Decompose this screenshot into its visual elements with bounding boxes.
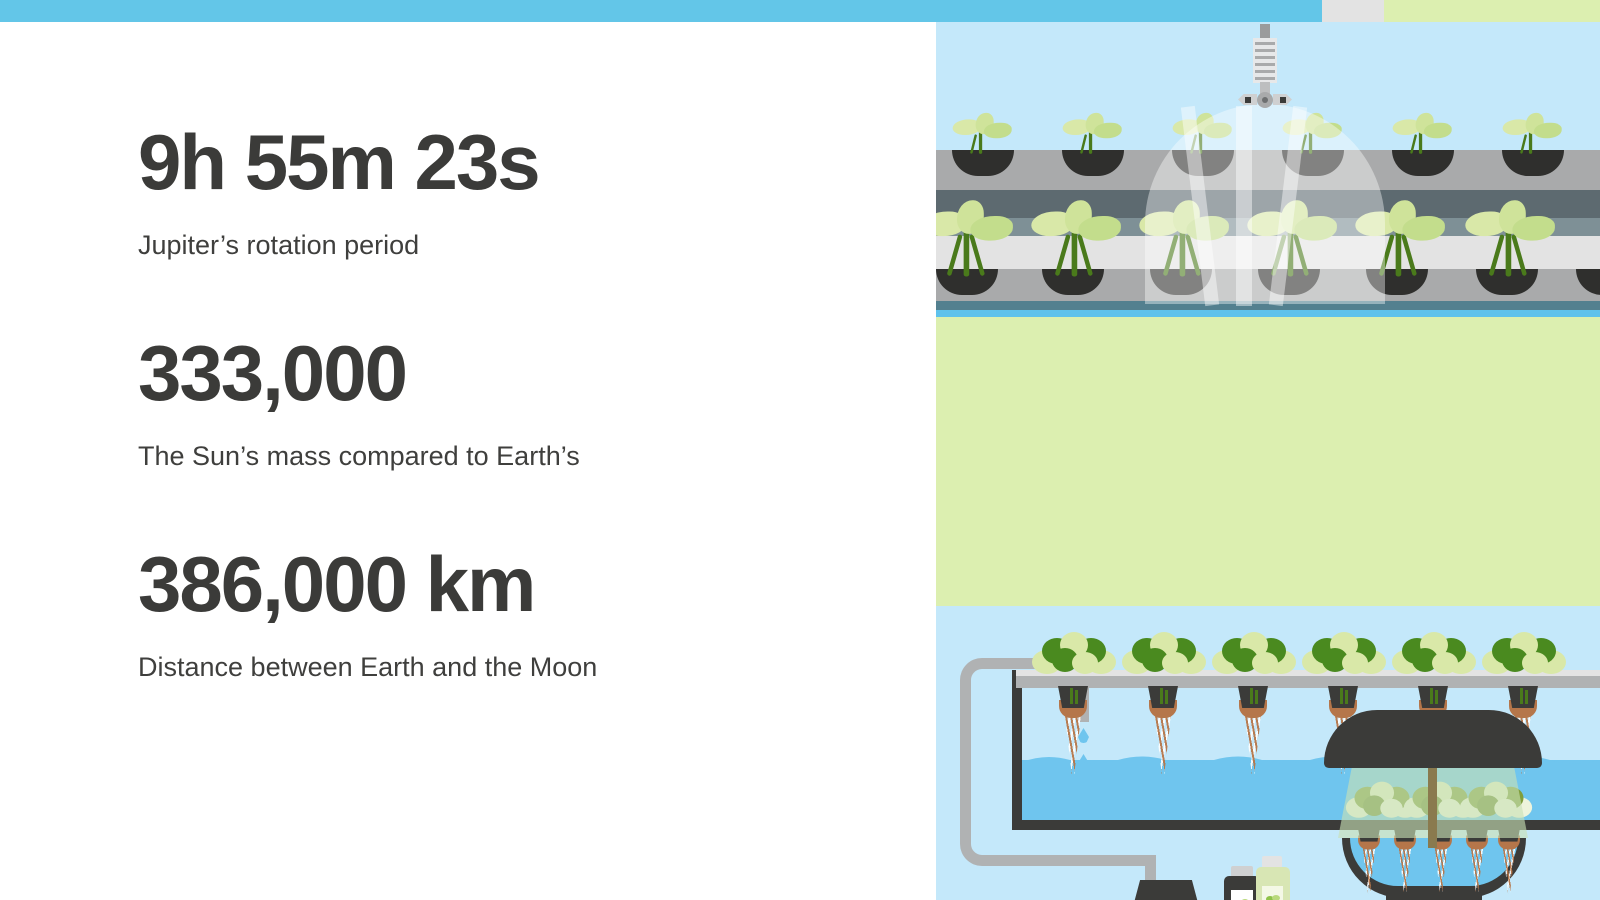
stat-block: 333,000 The Sun’s mass compared to Earth… <box>138 333 936 472</box>
net-pot <box>1054 686 1092 746</box>
nutrient-bottle-light <box>1254 856 1292 900</box>
tank-wall <box>1012 670 1022 830</box>
illustration-column <box>936 22 1600 900</box>
stat-label: Jupiter’s rotation period <box>138 230 936 261</box>
return-pipe <box>1056 855 1156 866</box>
seedling <box>1465 200 1552 269</box>
green-divider-strip <box>936 598 1600 606</box>
lettuce-head <box>1482 632 1566 684</box>
seedling <box>951 110 1015 161</box>
seedling <box>1501 110 1565 161</box>
water-band <box>936 310 1600 317</box>
stats-panel: 9h 55m 23s Jupiter’s rotation period 333… <box>0 22 936 900</box>
pot-cup <box>1328 686 1358 708</box>
dome-planter <box>1324 710 1542 900</box>
stat-value: 386,000 km <box>138 544 936 626</box>
top-accent-bar <box>0 0 1600 22</box>
seedling <box>1061 110 1125 161</box>
lettuce-head <box>1392 632 1476 684</box>
dome-canopy <box>1324 710 1542 768</box>
pot-cup <box>1148 686 1178 708</box>
stat-block: 386,000 km Distance between Earth and th… <box>138 544 936 683</box>
water-stream <box>1236 106 1252 306</box>
dome-stem <box>1428 762 1437 848</box>
stat-value: 333,000 <box>138 333 936 415</box>
top-bar-blue-segment <box>0 0 1322 22</box>
stat-label: Distance between Earth and the Moon <box>138 652 936 683</box>
top-bar-gray-segment <box>1322 0 1384 22</box>
lettuce-head <box>1212 632 1296 684</box>
sprinkler-nozzle-center <box>1262 97 1268 103</box>
net-pot <box>1234 686 1272 746</box>
green-panel <box>936 317 1600 598</box>
stat-block: 9h 55m 23s Jupiter’s rotation period <box>138 122 936 261</box>
pot-cup <box>1238 686 1268 708</box>
pot-cup <box>1418 686 1448 708</box>
net-pot <box>1144 686 1182 746</box>
planter-foot <box>1386 892 1482 900</box>
seedling <box>1031 200 1118 269</box>
lettuce-head <box>1302 632 1386 684</box>
lettuce-head <box>1032 632 1116 684</box>
misting-nursery-illustration <box>936 22 1600 317</box>
stat-label: The Sun’s mass compared to Earth’s <box>138 441 936 472</box>
seedling <box>1391 110 1455 161</box>
pot-cup <box>1058 686 1088 708</box>
sprinkler-head-icon <box>1242 24 1288 110</box>
hydroponic-tank-illustration <box>936 598 1600 900</box>
seedling <box>936 200 1011 269</box>
top-bar-green-segment <box>1384 0 1600 22</box>
water-pump-icon <box>1130 880 1202 900</box>
lettuce-head <box>1122 632 1206 684</box>
pot-cup <box>1508 686 1538 708</box>
stat-value: 9h 55m 23s <box>138 122 936 204</box>
